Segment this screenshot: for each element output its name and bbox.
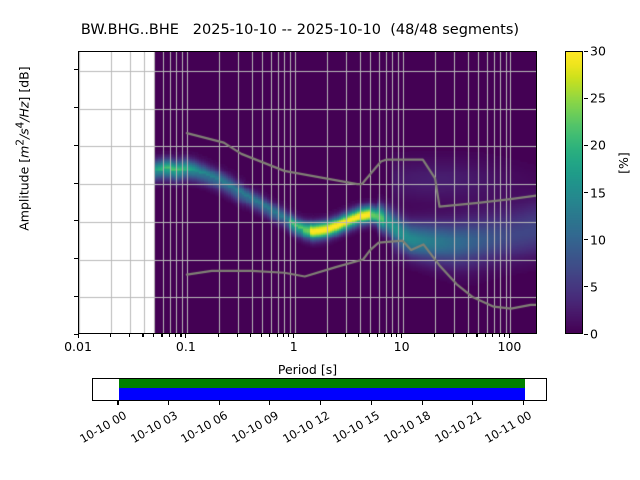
colorbar-tick-label: 15 (590, 185, 606, 200)
timeline-tick-mark (269, 401, 270, 405)
x-axis-minor-tick-mark (476, 334, 477, 337)
colorbar-tick-label: 30 (590, 44, 606, 59)
timeline-tick-mark (168, 401, 169, 405)
x-axis-minor-tick-mark (369, 334, 370, 337)
x-axis-minor-tick-mark (396, 334, 397, 337)
y-axis-label-text: Amplitude [m2/s4/Hz] [dB] (17, 66, 32, 230)
x-axis-minor-tick-mark (250, 334, 251, 337)
y-axis-tick-mark (74, 220, 78, 221)
x-axis-minor-tick-mark (237, 334, 238, 337)
x-axis-minor-tick-mark (288, 334, 289, 337)
x-axis-major-tick-mark (185, 334, 186, 338)
x-axis-minor-tick-mark (485, 334, 486, 337)
x-axis-minor-tick-mark (153, 334, 154, 337)
timeline-tick-mark (219, 401, 220, 405)
x-axis-minor-tick-mark (283, 334, 284, 337)
timeline-tick-label: 10-10 00 (73, 408, 128, 448)
colorbar-tick-mark (584, 192, 588, 193)
x-axis-label: Period [s] (78, 362, 537, 377)
colorbar[interactable] (565, 51, 583, 334)
y-axis-tick-mark (74, 258, 78, 259)
timeline-tick-label: 10-10 06 (175, 408, 230, 448)
y-axis-tick-mark (74, 296, 78, 297)
y-axis-tick-mark (74, 107, 78, 108)
timeline-tick-mark (523, 401, 524, 405)
colorbar-tick-mark (584, 239, 588, 240)
colorbar-tick-mark (584, 145, 588, 146)
timeline-tick-label: 10-10 15 (327, 408, 382, 448)
timeline-tick-label: 10-10 09 (225, 408, 280, 448)
timeline-coverage-axes[interactable] (92, 378, 547, 401)
x-axis-minor-tick-mark (492, 334, 493, 337)
x-axis-minor-tick-mark (434, 334, 435, 337)
x-axis-minor-tick-mark (175, 334, 176, 337)
ppsd-figure: BW.BHG..BHE 2025-10-10 -- 2025-10-10 (48… (0, 0, 640, 480)
timeline-tick-label: 10-10 12 (276, 408, 331, 448)
x-axis-tick-label: 0.01 (33, 339, 123, 354)
x-axis-minor-tick-mark (277, 334, 278, 337)
ppsd-histogram-canvas (79, 52, 537, 334)
timeline-tick-label: 10-11 00 (479, 408, 534, 448)
colorbar-tick-mark (584, 98, 588, 99)
x-axis-minor-tick-mark (326, 334, 327, 337)
ppsd-plot-area[interactable] (78, 51, 537, 334)
x-axis-minor-tick-mark (180, 334, 181, 337)
x-axis-minor-tick-mark (110, 334, 111, 337)
x-axis-minor-tick-mark (142, 334, 143, 337)
x-axis-minor-tick-mark (169, 334, 170, 337)
timeline-tick-mark (117, 401, 118, 405)
x-axis-tick-label: 1 (249, 339, 339, 354)
x-axis-tick-label: 0.1 (141, 339, 231, 354)
timeline-tick-mark (320, 401, 321, 405)
colorbar-tick-mark (584, 51, 588, 52)
colorbar-tick-mark (584, 334, 588, 335)
x-axis-major-tick-mark (78, 334, 79, 338)
timeline-tick-label: 10-10 21 (428, 408, 483, 448)
x-axis-minor-tick-mark (499, 334, 500, 337)
y-axis-tick-mark (74, 69, 78, 70)
x-axis-minor-tick-mark (161, 334, 162, 337)
x-axis-major-tick-mark (293, 334, 294, 338)
x-axis-minor-tick-mark (384, 334, 385, 337)
x-axis-tick-label: 10 (357, 339, 447, 354)
x-axis-minor-tick-mark (504, 334, 505, 337)
x-axis-major-tick-mark (401, 334, 402, 338)
x-axis-minor-tick-mark (358, 334, 359, 337)
timeline-tick-mark (472, 401, 473, 405)
x-axis-minor-tick-mark (345, 334, 346, 337)
colorbar-tick-label: 5 (590, 279, 598, 294)
colorbar-tick-label: 0 (590, 327, 598, 342)
colorbar-tick-mark (584, 286, 588, 287)
x-axis-minor-tick-mark (377, 334, 378, 337)
y-axis-tick-mark (74, 183, 78, 184)
colorbar-unit-label: [%] (616, 133, 631, 193)
data-coverage-green (119, 379, 524, 388)
colorbar-tick-label: 10 (590, 232, 606, 247)
x-axis-minor-tick-mark (466, 334, 467, 337)
data-coverage-blue (119, 388, 524, 400)
x-axis-minor-tick-mark (453, 334, 454, 337)
colorbar-tick-label: 25 (590, 91, 606, 106)
timeline-tick-label: 10-10 03 (124, 408, 179, 448)
timeline-tick-mark (422, 401, 423, 405)
y-axis-label: Amplitude [m2/s4/Hz] [dB] (14, 9, 31, 289)
y-axis-tick-mark (74, 145, 78, 146)
colorbar-tick-label: 20 (590, 138, 606, 153)
x-axis-minor-tick-mark (269, 334, 270, 337)
colorbar-gradient (566, 52, 582, 333)
page-title: BW.BHG..BHE 2025-10-10 -- 2025-10-10 (48… (0, 22, 600, 38)
timeline-tick-label: 10-10 18 (378, 408, 433, 448)
x-axis-minor-tick-mark (261, 334, 262, 337)
timeline-tick-mark (371, 401, 372, 405)
x-axis-minor-tick-mark (218, 334, 219, 337)
x-axis-minor-tick-mark (391, 334, 392, 337)
x-axis-tick-label: 100 (464, 339, 554, 354)
x-axis-minor-tick-mark (129, 334, 130, 337)
x-axis-major-tick-mark (509, 334, 510, 338)
